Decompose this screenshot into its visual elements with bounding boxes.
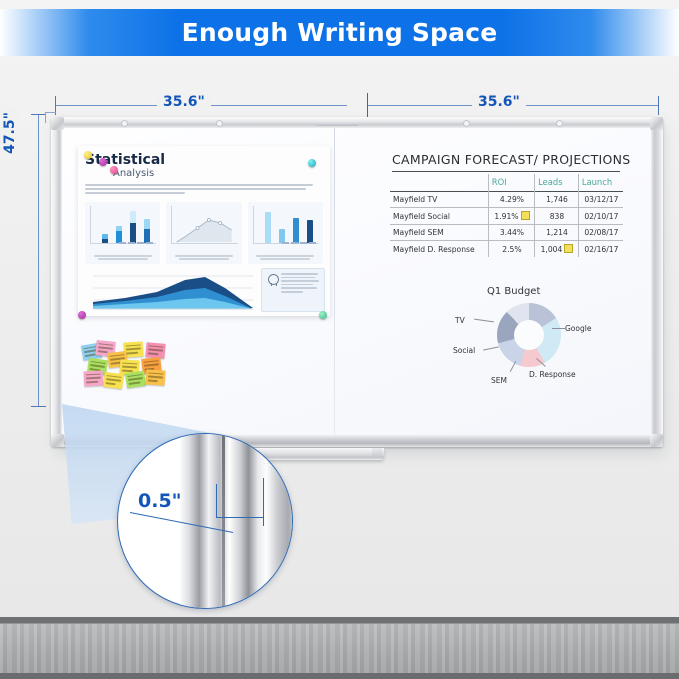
poster-chart-row xyxy=(85,202,323,264)
donut-leader-tv xyxy=(474,319,494,323)
frame-right xyxy=(651,117,663,447)
top-dimension-annotation: 35.6" 35.6" xyxy=(47,92,659,118)
q1-budget-chart: Q1 Budget TV Google Social SEM D. Respon… xyxy=(455,288,605,392)
donut-leader-social xyxy=(483,346,499,350)
line-chart xyxy=(166,202,241,264)
magnet-green[interactable] xyxy=(319,311,327,319)
magnet-teal[interactable] xyxy=(308,159,316,167)
dimension-endcap-center xyxy=(367,93,368,120)
highlight-sticker xyxy=(564,244,573,253)
cell-launch: 02/10/17 xyxy=(578,208,623,225)
bar-chart xyxy=(248,202,323,264)
rail-dot xyxy=(556,120,563,127)
donut-leader-google xyxy=(552,328,566,329)
magnet-magenta[interactable] xyxy=(99,158,107,166)
dimension-line-vertical xyxy=(38,114,39,406)
donut-title: Q1 Budget xyxy=(487,286,540,297)
sticky-note[interactable] xyxy=(145,369,165,385)
cell-leads: 838 xyxy=(535,208,579,225)
dimension-endcap-right xyxy=(658,96,659,115)
donut-label-dresponse: D. Response xyxy=(529,370,576,379)
width-left-value: 35.6" xyxy=(157,94,211,110)
poster-subtitle: Analysis xyxy=(113,168,323,179)
table-row: Mayfield Social 1.91% 838 02/10/17 xyxy=(390,208,623,225)
product-image: Enough Writing Space 35.6" 35.6" 47.5" xyxy=(0,0,679,679)
cell-roi: 2.5% xyxy=(488,241,534,258)
poster-body-text xyxy=(85,184,323,194)
donut-label-google: Google xyxy=(565,324,591,333)
cell-roi: 3.44% xyxy=(488,225,534,241)
insight-note-text xyxy=(281,273,321,295)
column-header-launch: Launch xyxy=(578,174,623,192)
floor-baseboard xyxy=(0,673,679,679)
aluminum-frame-closeup xyxy=(180,433,293,609)
frame-corner-top-left xyxy=(51,117,64,130)
insight-note xyxy=(261,268,325,312)
column-header-roi: ROI xyxy=(488,174,534,192)
area-chart xyxy=(85,268,255,310)
table-row: Mayfield TV 4.29% 1,746 03/12/17 xyxy=(390,192,623,208)
cell-leads: 1,214 xyxy=(535,225,579,241)
dimension-endcap-bottom xyxy=(31,406,46,407)
cell-launch: 02/16/17 xyxy=(578,241,623,258)
cell-campaign: Mayfield Social xyxy=(390,208,488,225)
magnet-pink[interactable] xyxy=(110,166,118,174)
donut-label-social: Social xyxy=(453,346,475,355)
rail-dot xyxy=(121,120,128,127)
height-value: 47.5" xyxy=(1,107,19,159)
poster-title: Statistical xyxy=(85,153,323,167)
magnet-magenta-lower[interactable] xyxy=(78,311,86,319)
table-row: Mayfield SEM 3.44% 1,214 02/08/17 xyxy=(390,225,623,241)
thickness-value: 0.5" xyxy=(138,490,182,512)
thickness-tick-right xyxy=(263,478,264,526)
frame-corner-bottom-left xyxy=(51,434,64,447)
banner-title: Enough Writing Space xyxy=(182,18,498,47)
frame-edge-seam xyxy=(222,433,225,609)
thickness-baseline xyxy=(216,517,264,518)
cell-roi: 4.29% xyxy=(488,192,534,208)
highlight-sticker xyxy=(521,211,530,220)
donut-label-sem: SEM xyxy=(491,376,507,385)
center-hinge xyxy=(315,121,359,126)
sticky-note-cluster xyxy=(80,340,184,388)
cell-leads: 1,746 xyxy=(535,192,579,208)
frame-thickness-magnifier: 0.5" xyxy=(117,433,293,609)
column-header-leads: Leads xyxy=(535,174,579,192)
column-header-campaign xyxy=(390,174,488,192)
cell-campaign: Mayfield D. Response xyxy=(390,241,488,258)
height-dimension-annotation xyxy=(22,110,52,410)
header-banner: Enough Writing Space xyxy=(0,9,679,56)
table-row: Mayfield D. Response 2.5% 1,004 02/16/17 xyxy=(390,241,623,258)
sticky-note[interactable] xyxy=(103,372,124,389)
sticky-note[interactable] xyxy=(145,342,165,359)
thickness-tick-left xyxy=(216,484,217,518)
cell-leads: 1,004 xyxy=(535,241,579,258)
forecast-table: ROI Leads Launch Mayfield TV 4.29% 1,746… xyxy=(390,174,623,279)
cell-campaign: Mayfield TV xyxy=(390,192,488,208)
sticky-note[interactable] xyxy=(84,371,104,387)
magnet-yellow[interactable] xyxy=(84,151,92,159)
sticky-note[interactable] xyxy=(125,371,146,388)
frame-left xyxy=(51,117,62,447)
forecast-title: CAMPAIGN FORECAST/ PROJECTIONS xyxy=(392,152,624,167)
dimension-endcap-top xyxy=(31,114,46,115)
floor xyxy=(0,617,679,679)
donut-leader-sem xyxy=(510,361,517,372)
lightbulb-icon xyxy=(267,274,278,287)
frame-corner-bottom-right xyxy=(650,434,663,447)
rail-dot xyxy=(216,120,223,127)
donut-label-tv: TV xyxy=(455,316,465,325)
rail-dot xyxy=(463,120,470,127)
cell-roi: 1.91% xyxy=(488,208,534,225)
line-chart-svg xyxy=(171,206,237,244)
forecast-title-underline xyxy=(392,171,620,172)
cell-launch: 02/08/17 xyxy=(578,225,623,241)
cell-launch: 03/12/17 xyxy=(578,192,623,208)
donut-graphic xyxy=(497,303,561,367)
area-chart-svg xyxy=(85,268,255,310)
table-header-row: ROI Leads Launch xyxy=(390,174,623,192)
whiteboard-center-seam xyxy=(334,128,335,435)
width-right-value: 35.6" xyxy=(472,94,526,110)
stacked-bar-chart xyxy=(85,202,160,264)
frame-corner-top-right xyxy=(650,117,663,130)
cell-campaign: Mayfield SEM xyxy=(390,225,488,241)
